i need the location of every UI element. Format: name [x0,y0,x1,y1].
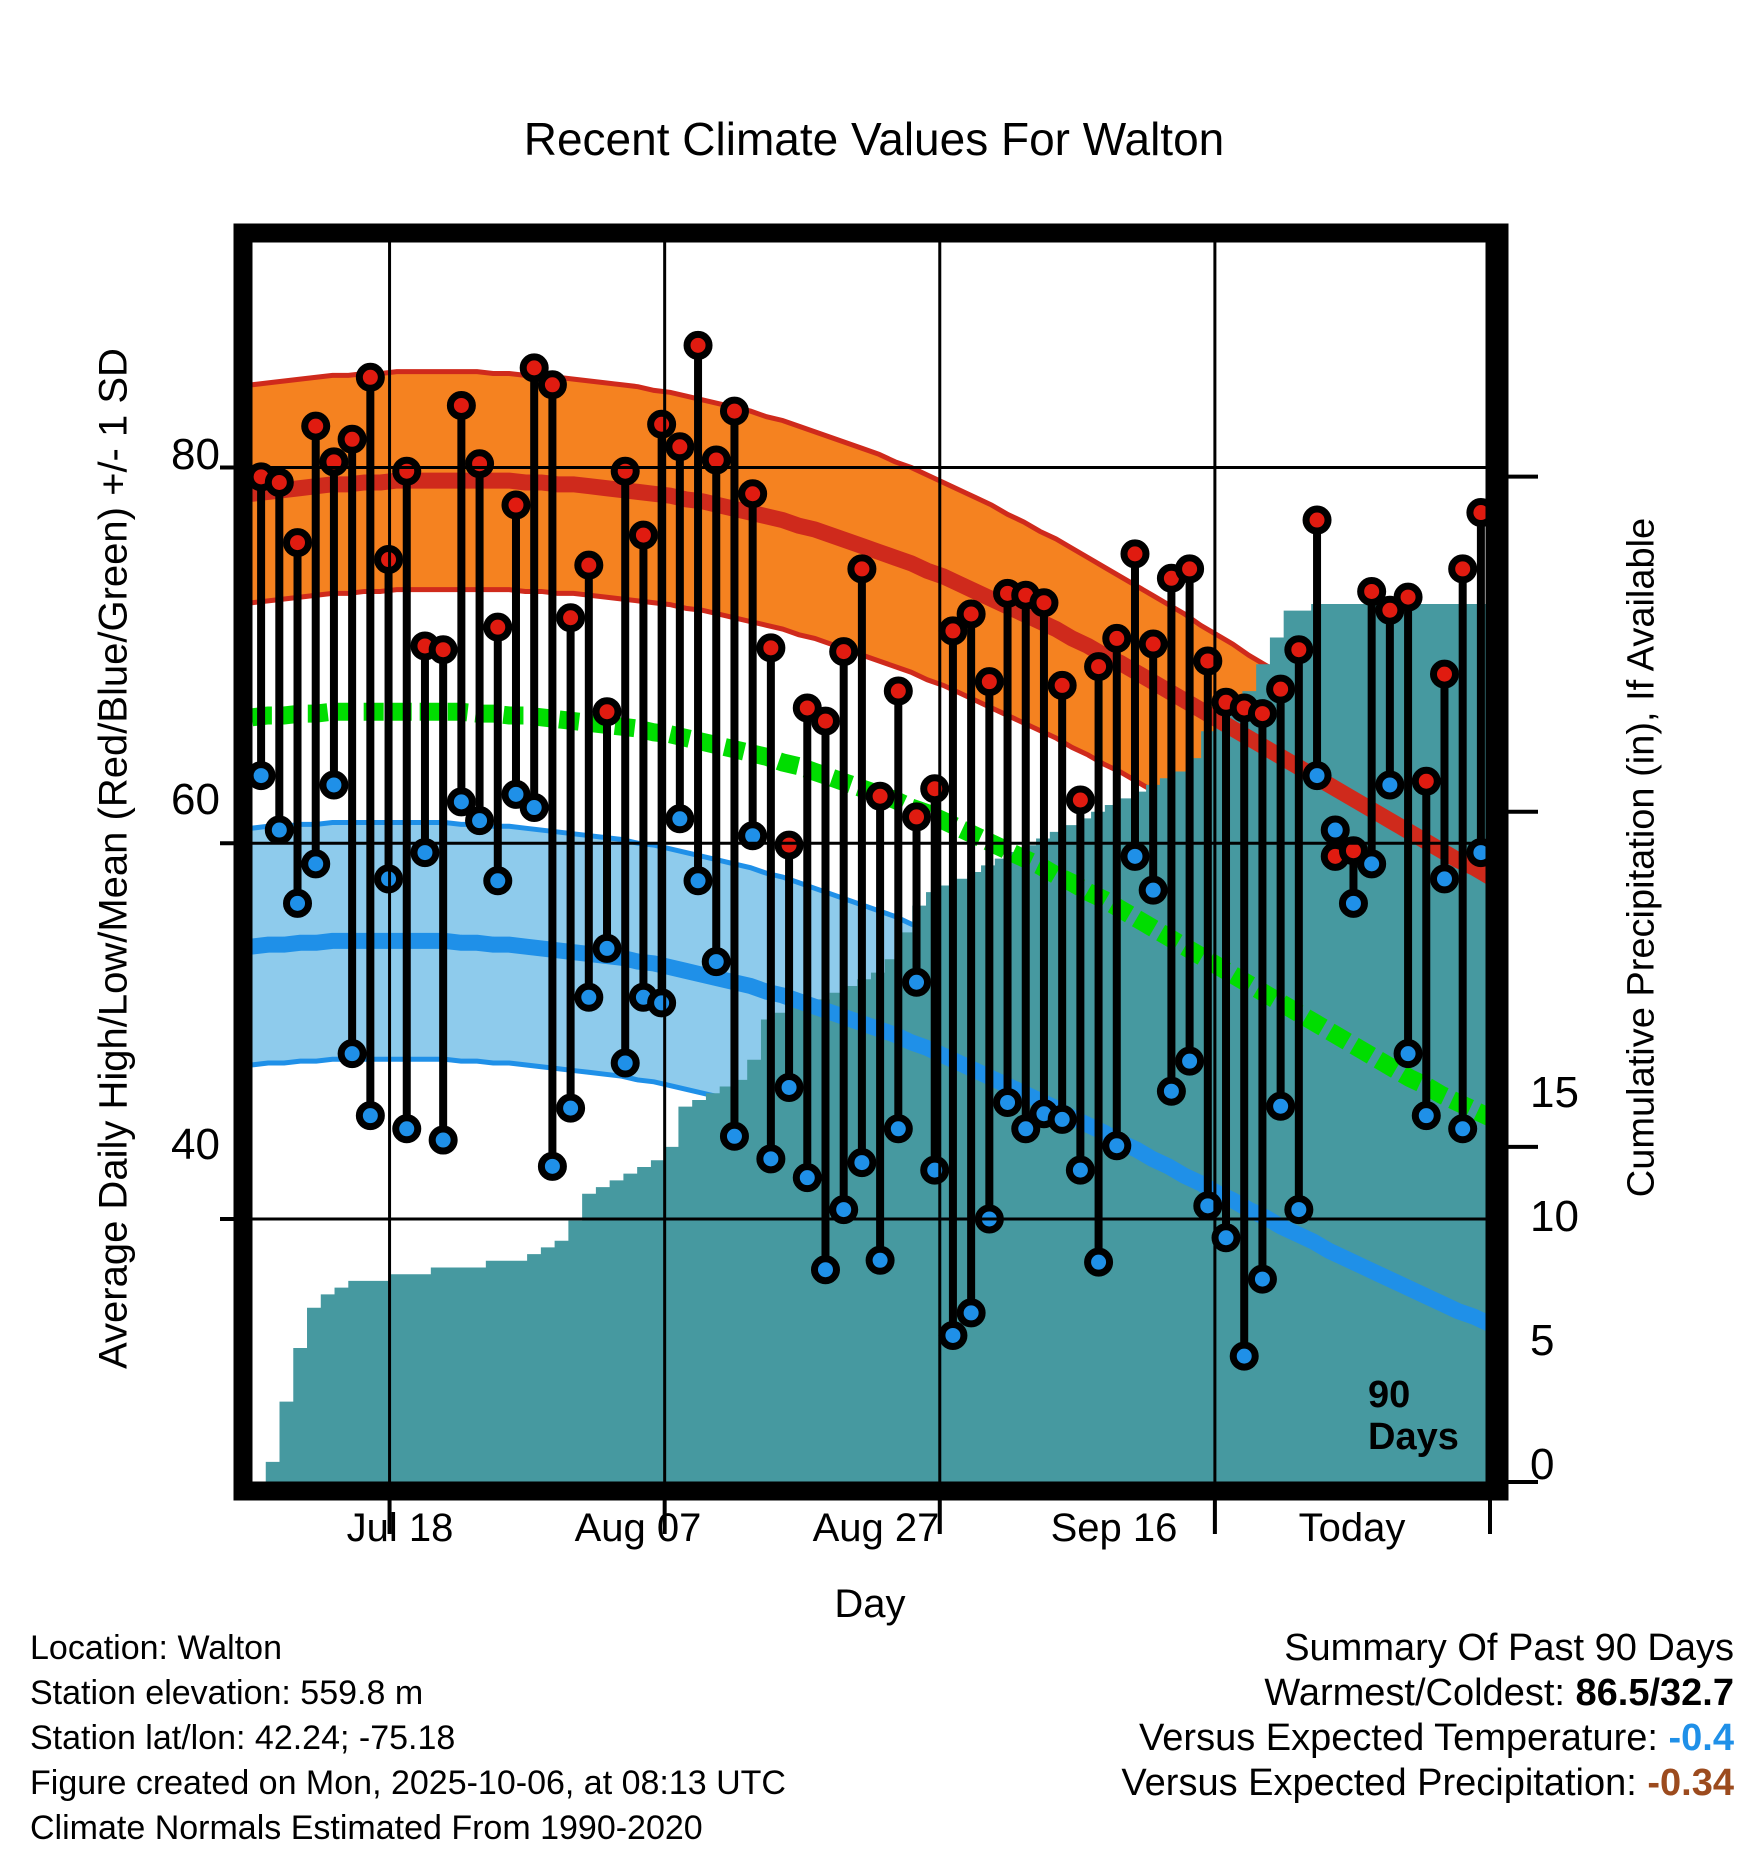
versus-precipitation-label: Versus Expected Precipitation: [1121,1762,1636,1804]
warmest-coldest-label: Warmest/Coldest: [1264,1672,1565,1714]
climate-plot [0,0,1748,1828]
warmest-coldest-value: 86.5/32.7 [1576,1672,1734,1714]
footer-normals: Climate Normals Estimated From 1990-2020 [30,1806,786,1851]
ninety-days-line2: Days [1368,1416,1459,1458]
summary-block: Summary Of Past 90 Days Warmest/Coldest:… [1121,1626,1734,1806]
footer-created: Figure created on Mon, 2025-10-06, at 08… [30,1761,786,1806]
versus-precipitation-value: -0.34 [1647,1762,1734,1804]
footer-latlon: Station lat/lon: 42.24; -75.18 [30,1716,786,1761]
versus-temperature-value: -0.4 [1669,1717,1734,1759]
summary-warmest-coldest: Warmest/Coldest: 86.5/32.7 [1121,1671,1734,1716]
summary-heading: Summary Of Past 90 Days [1121,1626,1734,1671]
footer-elevation: Station elevation: 559.8 m [30,1671,786,1716]
footer-left-block: Location: Walton Station elevation: 559.… [30,1626,786,1851]
ninety-days-line1: 90 [1368,1374,1410,1416]
versus-temperature-label: Versus Expected Temperature: [1139,1717,1658,1759]
summary-versus-precipitation: Versus Expected Precipitation: -0.34 [1121,1761,1734,1806]
footer-location: Location: Walton [30,1626,786,1671]
ninety-days-annotation: 90 Days [1368,1374,1459,1458]
summary-versus-temperature: Versus Expected Temperature: -0.4 [1121,1716,1734,1761]
